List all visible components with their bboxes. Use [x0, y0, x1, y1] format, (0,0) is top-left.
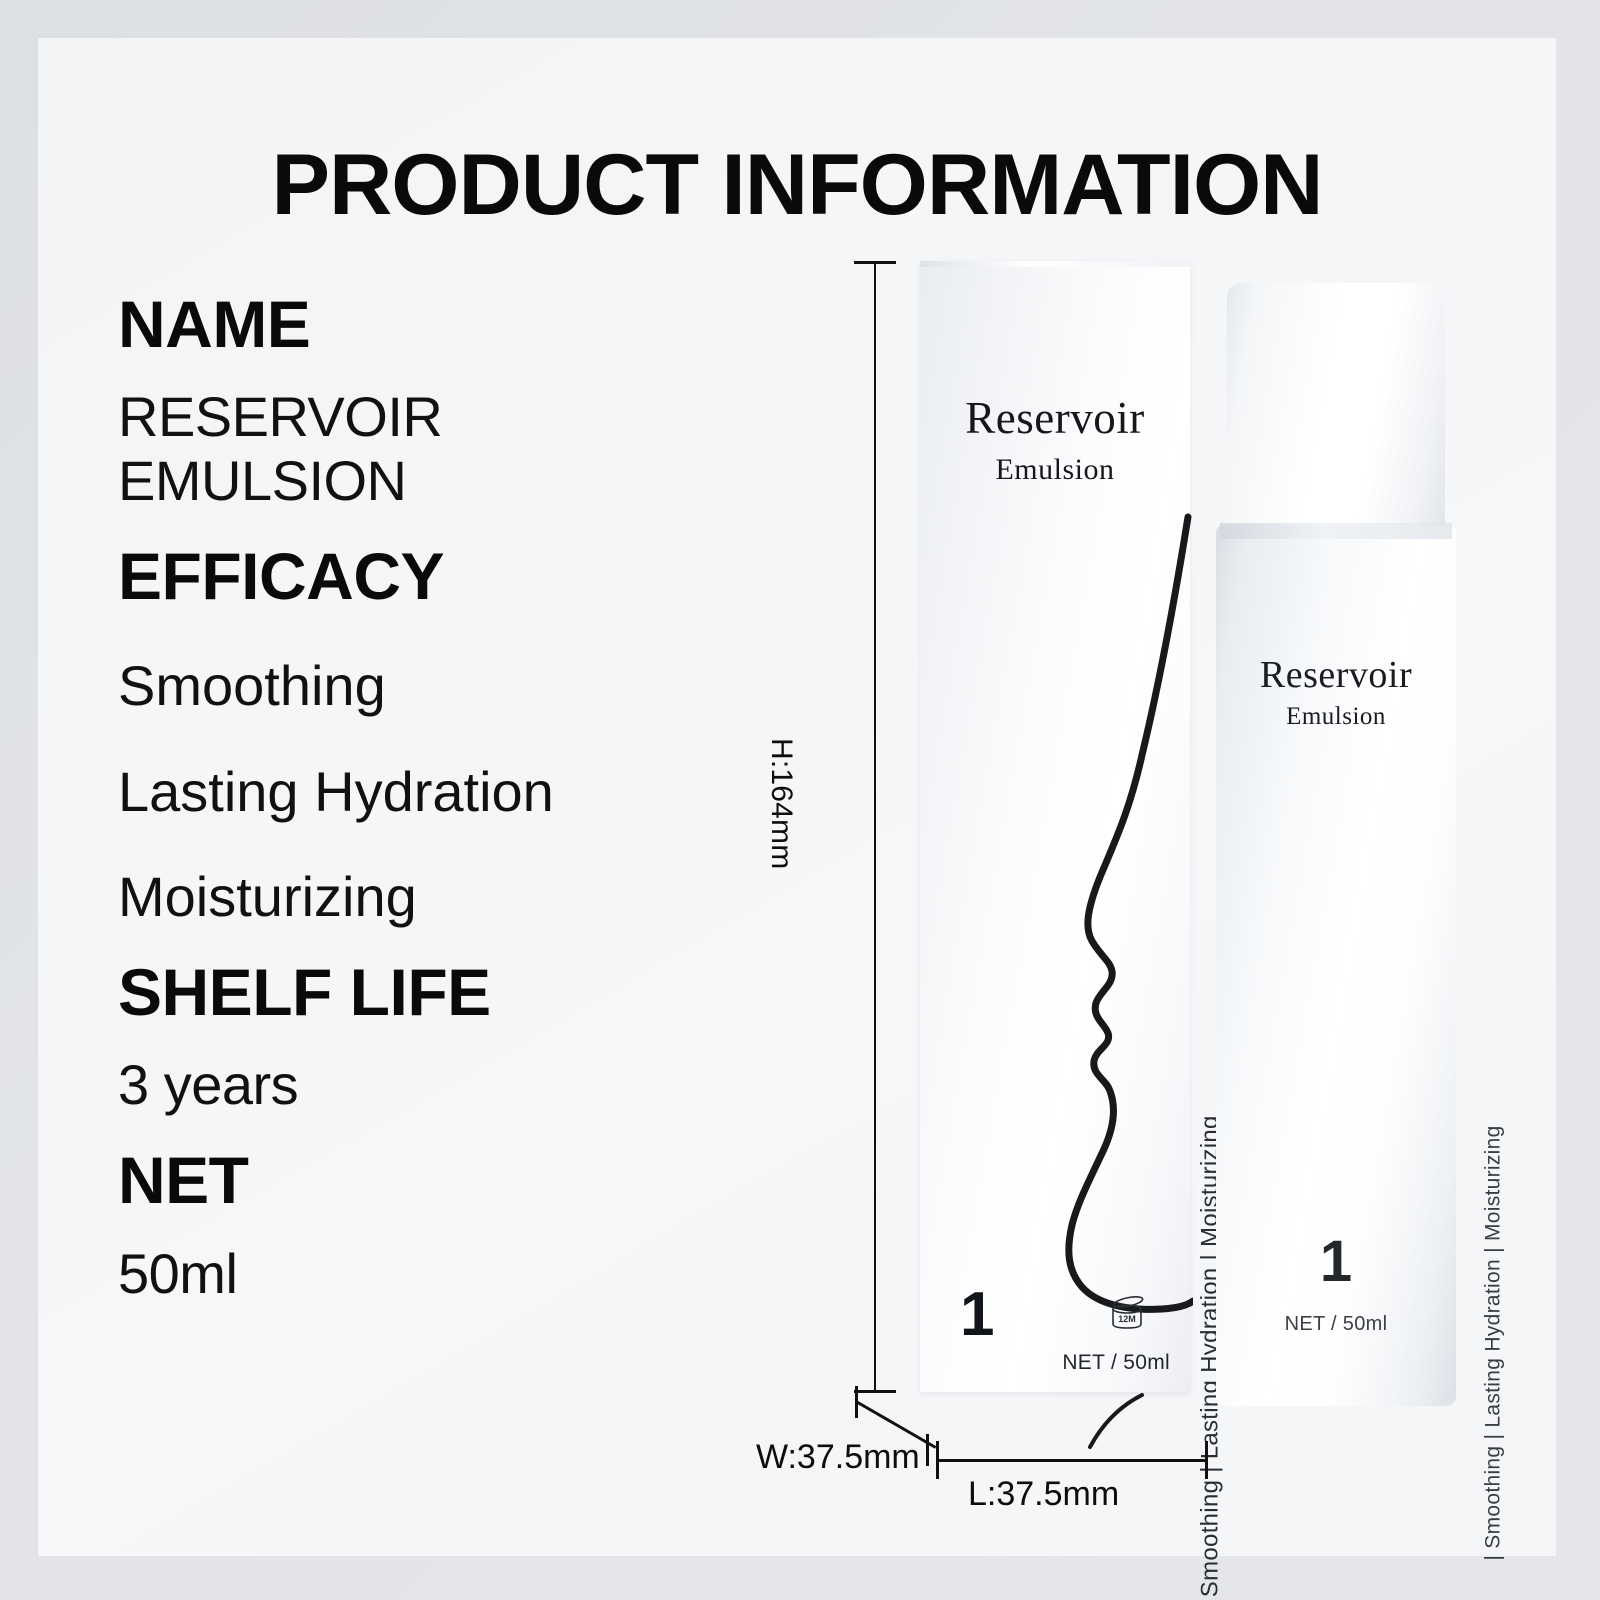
product-artwork: Reservoir Emulsion | Smoothing | Lasting…	[38, 38, 1556, 1556]
carton-net-label: NET / 50ml	[920, 1351, 1170, 1375]
height-tick-top	[854, 261, 896, 264]
width-tick-end	[926, 1434, 929, 1466]
product-carton: Reservoir Emulsion | Smoothing | Lasting…	[920, 261, 1190, 1392]
bottle-neck	[1220, 523, 1452, 539]
bottle-brand-name: Reservoir	[1216, 653, 1456, 697]
infographic-canvas: PRODUCT INFORMATION NAME RESERVOIR EMULS…	[0, 0, 1600, 1600]
carton-product-type: Emulsion	[920, 453, 1190, 487]
bottle-net-label: NET / 50ml	[1216, 1313, 1456, 1336]
carton-series-number: 1	[960, 1279, 994, 1350]
length-dimension-line	[936, 1459, 1208, 1462]
bottle-series-number: 1	[1216, 1228, 1456, 1295]
height-dimension-label: H:164mm	[764, 738, 798, 869]
height-dimension-line	[874, 261, 876, 1392]
carton-brand-name: Reservoir	[920, 392, 1190, 444]
pao-label: 12M	[1118, 1314, 1136, 1324]
bottle-claims-text: | Smoothing | Lasting Hydration | Moistu…	[1482, 1125, 1506, 1560]
content-panel: PRODUCT INFORMATION NAME RESERVOIR EMULS…	[38, 38, 1556, 1556]
length-dimension-label: L:37.5mm	[968, 1475, 1119, 1514]
length-tick-right	[1205, 1441, 1208, 1479]
bottle-cap	[1227, 283, 1445, 530]
width-dimension-label: W:37.5mm	[756, 1438, 920, 1477]
width-tick-start	[855, 1386, 858, 1418]
pao-12m-icon: 12M	[1106, 1291, 1148, 1331]
height-tick-bottom	[854, 1390, 896, 1393]
product-bottle: Reservoir Emulsion | Smoothing | Lasting…	[1216, 283, 1456, 1406]
length-tick-left	[936, 1441, 939, 1479]
bottle-product-type: Emulsion	[1216, 703, 1456, 731]
carton-top-edge	[920, 261, 1190, 267]
carton-claims-strip: | Smoothing | Lasting Hydration | Moistu…	[956, 633, 998, 1363]
face-profile-icon	[1038, 509, 1193, 1529]
